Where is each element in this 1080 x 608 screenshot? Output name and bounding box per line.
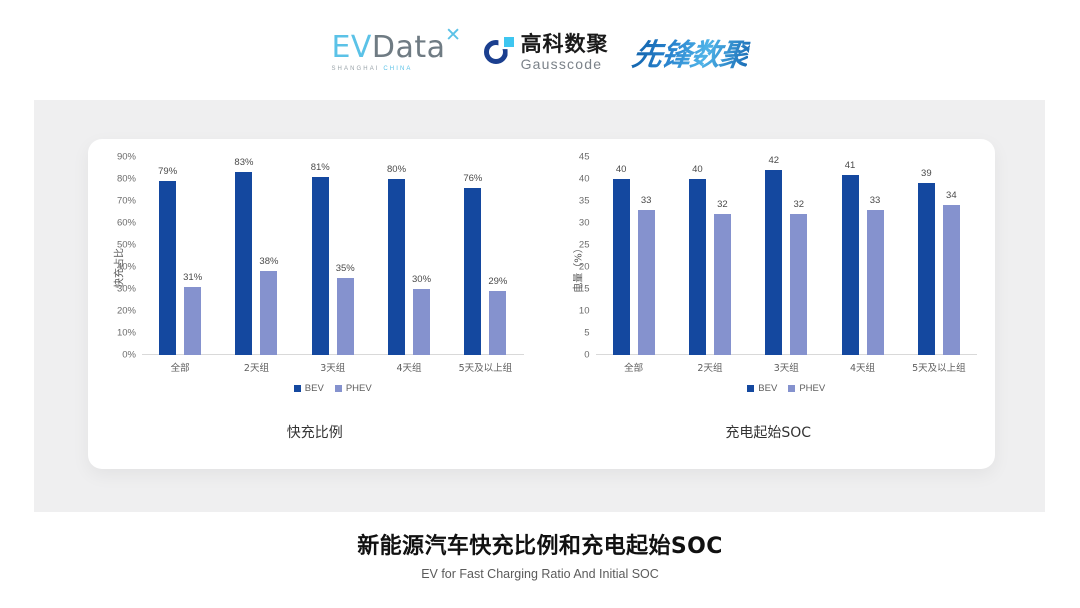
legend-item-phev-left[interactable]: PHEV (335, 383, 372, 394)
y-axis-ticks-left: 90%80%70%60%50%40%30%20%10%0% (106, 157, 140, 355)
y-axis-tick: 45 (579, 152, 590, 163)
bar-value-label: 32 (717, 199, 728, 210)
gausscode-english-name: Gausscode (521, 57, 609, 71)
y-axis-tick: 25 (579, 240, 590, 251)
gausscode-text-block: 高科数聚 Gausscode (521, 34, 609, 71)
bar-value-label: 30% (412, 274, 431, 285)
x-axis-label: 4天组 (824, 360, 900, 374)
legend-label-bev: BEV (305, 383, 324, 394)
bar-phev[interactable]: 30% (413, 289, 430, 355)
bar-phev[interactable]: 35% (337, 278, 354, 355)
bar-phev[interactable]: 33 (638, 210, 655, 355)
chart-initial-soc: 电量（%） 454035302520151050 403340324232413… (542, 139, 996, 469)
bar-group: 80%30% (371, 157, 447, 355)
gausscode-square-shape (504, 37, 514, 47)
bar-value-label: 42 (768, 155, 779, 166)
bar-phev[interactable]: 33 (867, 210, 884, 355)
x-axis-label: 5天及以上组 (447, 360, 523, 374)
bar-bev[interactable]: 79% (159, 181, 176, 355)
evdata-ev-text: EV (331, 30, 371, 65)
y-axis-tick: 40 (579, 174, 590, 185)
legend-item-phev-right[interactable]: PHEV (788, 383, 825, 394)
footer-title-chinese: 新能源汽车快充比例和充电起始SOC (0, 528, 1080, 560)
bar-phev[interactable]: 34 (943, 205, 960, 355)
bar-value-label: 79% (158, 166, 177, 177)
xianfeng-logo: 先锋数聚 (629, 30, 752, 74)
bar-value-label: 39 (921, 168, 932, 179)
legend-label-phev: PHEV (346, 383, 372, 394)
x-axis-label: 4天组 (371, 360, 447, 374)
bar-value-label: 40 (616, 164, 627, 175)
gausscode-mark-icon (484, 37, 514, 67)
bar-phev[interactable]: 31% (184, 287, 201, 355)
bar-group: 3934 (901, 157, 977, 355)
bar-group: 79%31% (142, 157, 218, 355)
y-axis-tick: 60% (117, 217, 136, 228)
bar-group: 4032 (672, 157, 748, 355)
bar-value-label: 83% (234, 157, 253, 168)
x-axis-label: 全部 (142, 360, 218, 374)
legend-swatch-bev-icon (747, 385, 754, 392)
charts-row: 快充占比 90%80%70%60%50%40%30%20%10%0% 79%31… (88, 139, 995, 469)
charts-card: 快充占比 90%80%70%60%50%40%30%20%10%0% 79%31… (88, 139, 995, 469)
plot-area-right: 电量（%） 454035302520151050 403340324232413… (542, 157, 996, 379)
y-axis-tick: 50% (117, 240, 136, 251)
bar-phev[interactable]: 29% (489, 291, 506, 355)
bar-phev[interactable]: 32 (714, 214, 731, 355)
y-axis-tick: 35 (579, 196, 590, 207)
bar-value-label: 33 (641, 195, 652, 206)
gausscode-logo: 高科数聚 Gausscode (484, 34, 609, 71)
y-axis-tick: 0 (584, 350, 589, 361)
chart-caption-left: 快充比例 (88, 422, 542, 442)
bar-value-label: 81% (311, 162, 330, 173)
bar-bev[interactable]: 42 (765, 170, 782, 355)
bar-group: 83%38% (218, 157, 294, 355)
bars-area-left: 79%31%83%38%81%35%80%30%76%29% (142, 157, 524, 355)
logo-bar: EVData ✕ SHANGHAI CHINA 高科数聚 Gausscode 先… (0, 22, 1080, 82)
legend-label-bev: BEV (758, 383, 777, 394)
bar-bev[interactable]: 39 (918, 183, 935, 355)
bar-bev[interactable]: 81% (312, 177, 329, 355)
y-axis-ticks-right: 454035302520151050 (560, 157, 594, 355)
legend-swatch-phev-icon (335, 385, 342, 392)
legend-swatch-bev-icon (294, 385, 301, 392)
legend-right: BEV PHEV (596, 383, 978, 394)
bar-phev[interactable]: 38% (260, 271, 277, 355)
y-axis-tick: 30 (579, 217, 590, 228)
chart-caption-right: 充电起始SOC (542, 422, 996, 442)
bar-group: 4033 (596, 157, 672, 355)
bar-value-label: 38% (259, 256, 278, 267)
x-axis-label: 3天组 (748, 360, 824, 374)
y-axis-tick: 0% (122, 350, 136, 361)
legend-left: BEV PHEV (142, 383, 524, 394)
y-axis-tick: 80% (117, 174, 136, 185)
bar-group: 4232 (748, 157, 824, 355)
bar-bev[interactable]: 83% (235, 172, 252, 355)
y-axis-tick: 40% (117, 262, 136, 273)
evdata-wordmark: EVData ✕ (331, 33, 445, 63)
bar-group: 81%35% (295, 157, 371, 355)
chart-fast-charging-ratio: 快充占比 90%80%70%60%50%40%30%20%10%0% 79%31… (88, 139, 542, 469)
evdata-tagline-shanghai: SHANGHAI (331, 66, 379, 72)
bar-group: 4133 (824, 157, 900, 355)
evdata-cross-icon: ✕ (445, 26, 461, 45)
bar-value-label: 35% (336, 263, 355, 274)
plot-right: 454035302520151050 40334032423241333934 … (596, 157, 978, 379)
bar-group: 76%29% (447, 157, 523, 355)
x-axis-label: 全部 (596, 360, 672, 374)
bar-value-label: 40 (692, 164, 703, 175)
legend-swatch-phev-icon (788, 385, 795, 392)
y-axis-tick: 90% (117, 152, 136, 163)
y-axis-tick: 20% (117, 306, 136, 317)
y-axis-tick: 15 (579, 283, 590, 294)
x-axis-labels-left: 全部2天组3天组4天组5天及以上组 (142, 355, 524, 379)
evdata-tagline: SHANGHAI CHINA (331, 66, 412, 72)
evdata-logo: EVData ✕ SHANGHAI CHINA (331, 33, 459, 72)
plot-area-left: 快充占比 90%80%70%60%50%40%30%20%10%0% 79%31… (88, 157, 542, 379)
y-axis-tick: 5 (584, 328, 589, 339)
bar-value-label: 32 (793, 199, 804, 210)
footer-titles: 新能源汽车快充比例和充电起始SOC EV for Fast Charging R… (0, 528, 1080, 581)
bar-value-label: 41 (845, 160, 856, 171)
footer-title-english: EV for Fast Charging Ratio And Initial S… (0, 567, 1080, 581)
bar-value-label: 80% (387, 164, 406, 175)
bar-bev[interactable]: 76% (464, 188, 481, 355)
gausscode-chinese-name: 高科数聚 (521, 34, 609, 55)
legend-item-bev-right[interactable]: BEV (747, 383, 777, 394)
bar-value-label: 33 (870, 195, 881, 206)
x-axis-labels-right: 全部2天组3天组4天组5天及以上组 (596, 355, 978, 379)
evdata-data-text: Data (372, 30, 446, 65)
bars-area-right: 40334032423241333934 (596, 157, 978, 355)
plot-left: 90%80%70%60%50%40%30%20%10%0% 79%31%83%3… (142, 157, 524, 379)
y-axis-tick: 30% (117, 283, 136, 294)
bar-bev[interactable]: 41 (842, 175, 859, 355)
y-axis-tick: 10 (579, 306, 590, 317)
bar-bev[interactable]: 40 (613, 179, 630, 355)
y-axis-tick: 70% (117, 196, 136, 207)
bar-value-label: 29% (488, 276, 507, 287)
evdata-tagline-china: CHINA (383, 66, 412, 72)
y-axis-tick: 20 (579, 262, 590, 273)
bar-bev[interactable]: 80% (388, 179, 405, 355)
legend-item-bev-left[interactable]: BEV (294, 383, 324, 394)
y-axis-tick: 10% (117, 328, 136, 339)
x-axis-label: 5天及以上组 (901, 360, 977, 374)
x-axis-label: 2天组 (218, 360, 294, 374)
bar-value-label: 34 (946, 190, 957, 201)
x-axis-label: 3天组 (295, 360, 371, 374)
bar-value-label: 76% (463, 173, 482, 184)
bar-phev[interactable]: 32 (790, 214, 807, 355)
legend-label-phev: PHEV (799, 383, 825, 394)
bar-value-label: 31% (183, 272, 202, 283)
x-axis-label: 2天组 (672, 360, 748, 374)
bar-bev[interactable]: 40 (689, 179, 706, 355)
